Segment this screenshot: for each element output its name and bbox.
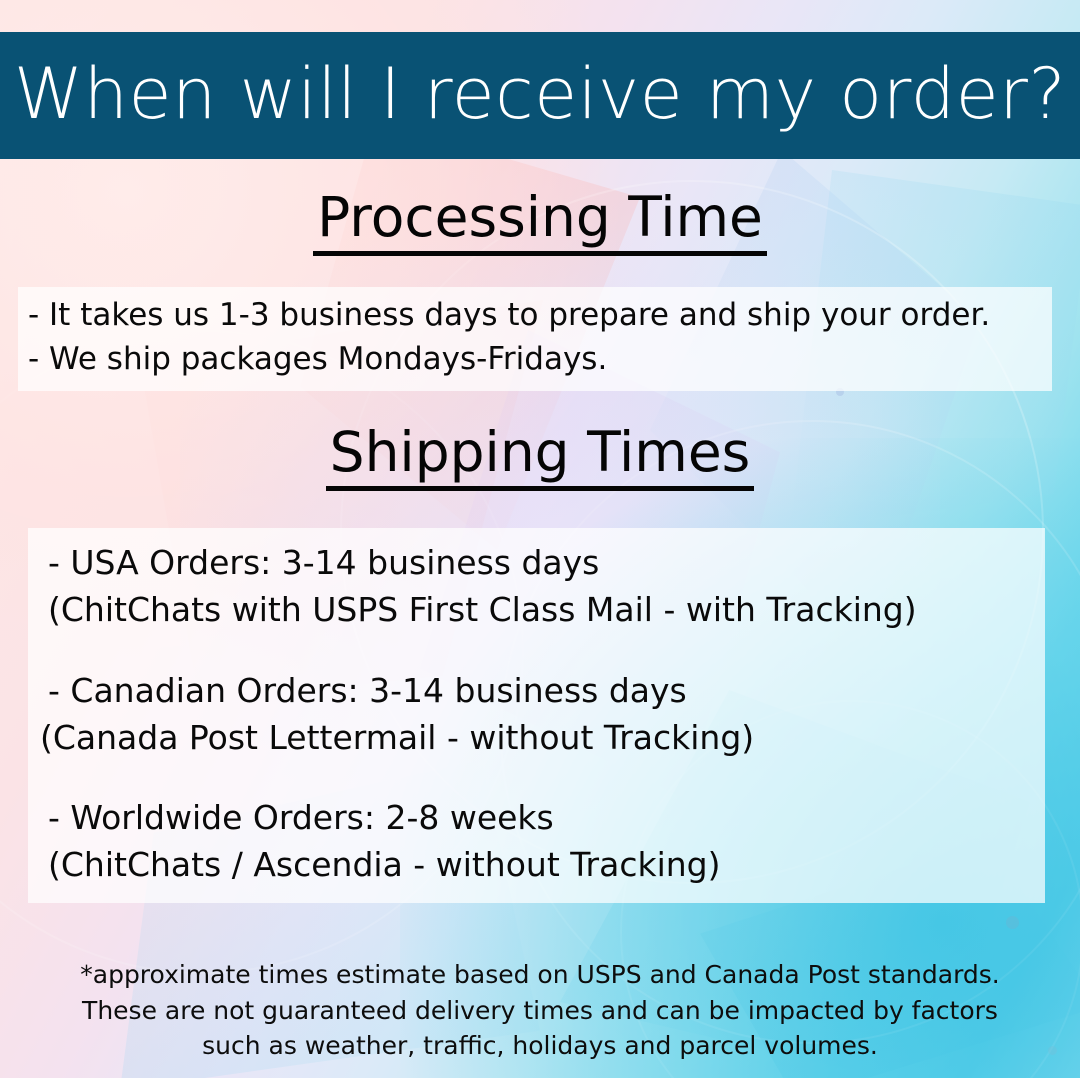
processing-line: - It takes us 1-3 business days to prepa… bbox=[28, 293, 1046, 337]
processing-line: - We ship packages Mondays-Fridays. bbox=[28, 337, 1046, 381]
footnote-line: *approximate times estimate based on USP… bbox=[0, 957, 1080, 993]
shipping-times-heading-text: Shipping Times bbox=[326, 425, 755, 491]
footnote-line: such as weather, traffic, holidays and p… bbox=[0, 1028, 1080, 1064]
shipping-group-title: - USA Orders: 3-14 business days bbox=[36, 540, 1037, 587]
shipping-times-text-block: - USA Orders: 3-14 business days (ChitCh… bbox=[28, 528, 1045, 903]
processing-time-text-block: - It takes us 1-3 business days to prepa… bbox=[18, 287, 1052, 391]
header-banner: When will I receive my order? bbox=[0, 32, 1080, 159]
footnote-line: These are not guaranteed delivery times … bbox=[0, 993, 1080, 1029]
shipping-group-detail: (ChitChats / Ascendia - without Tracking… bbox=[36, 842, 1037, 889]
page-title: When will I receive my order? bbox=[14, 59, 1066, 133]
shipping-group-detail: (Canada Post Lettermail - without Tracki… bbox=[36, 715, 1037, 762]
shipping-group-worldwide: - Worldwide Orders: 2-8 weeks (ChitChats… bbox=[36, 795, 1037, 889]
shipping-info-poster: When will I receive my order? Processing… bbox=[0, 0, 1080, 1078]
poster-content: Processing Time - It takes us 1-3 busine… bbox=[0, 0, 1080, 1078]
footnote-disclaimer: *approximate times estimate based on USP… bbox=[0, 957, 1080, 1064]
processing-time-heading-text: Processing Time bbox=[313, 190, 767, 256]
shipping-group-title: - Canadian Orders: 3-14 business days bbox=[36, 668, 1037, 715]
shipping-group-title: - Worldwide Orders: 2-8 weeks bbox=[36, 795, 1037, 842]
processing-time-heading: Processing Time bbox=[0, 190, 1080, 256]
shipping-group-canada: - Canadian Orders: 3-14 business days (C… bbox=[36, 668, 1037, 762]
shipping-times-heading: Shipping Times bbox=[0, 425, 1080, 491]
shipping-group-detail: (ChitChats with USPS First Class Mail - … bbox=[36, 587, 1037, 634]
shipping-group-usa: - USA Orders: 3-14 business days (ChitCh… bbox=[36, 540, 1037, 634]
